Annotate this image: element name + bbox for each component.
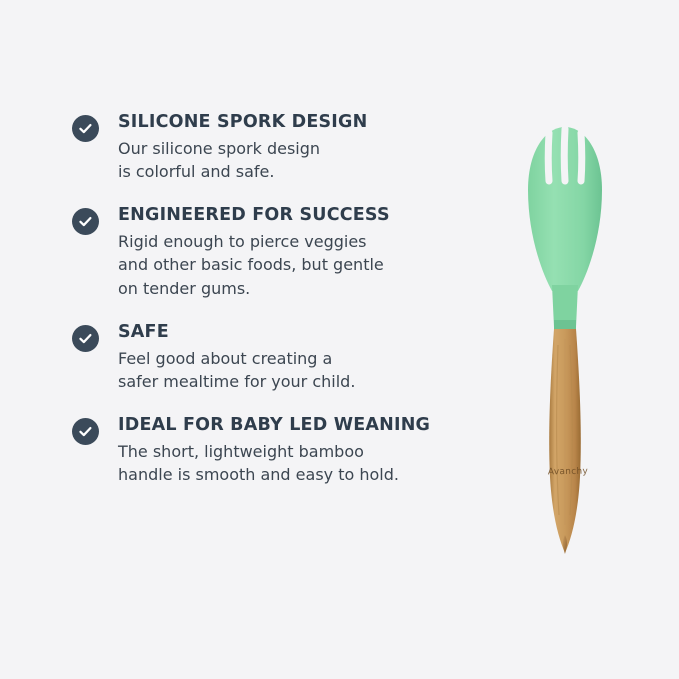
check-icon: [72, 325, 99, 352]
feature-item-ideal-for-baby-led-weaning: IDEAL FOR BABY LED WEANING The short, li…: [72, 415, 472, 486]
feature-title: SILICONE SPORK DESIGN: [118, 112, 472, 134]
feature-item-silicone-spork-design: SILICONE SPORK DESIGN Our silicone spork…: [72, 112, 472, 183]
feature-description: Rigid enough to pierce veggies and other…: [118, 230, 472, 300]
check-icon: [72, 208, 99, 235]
feature-list: SILICONE SPORK DESIGN Our silicone spork…: [72, 112, 472, 486]
feature-title: IDEAL FOR BABY LED WEANING: [118, 415, 472, 437]
brand-logo: Avanchy: [533, 466, 603, 477]
check-icon: [72, 115, 99, 142]
feature-item-safe: SAFE Feel good about creating a safer me…: [72, 322, 472, 393]
product-feature-graphic: SILICONE SPORK DESIGN Our silicone spork…: [0, 0, 679, 679]
silicone-spork-head: [528, 127, 602, 331]
feature-description: Feel good about creating a safer mealtim…: [118, 347, 472, 393]
feature-description: Our silicone spork design is colorful an…: [118, 137, 472, 183]
product-image: Avanchy: [470, 95, 660, 575]
feature-title: SAFE: [118, 322, 472, 344]
bamboo-handle: [549, 329, 581, 554]
check-icon: [72, 418, 99, 445]
feature-item-engineered-for-success: ENGINEERED FOR SUCCESS Rigid enough to p…: [72, 205, 472, 299]
feature-description: The short, lightweight bamboo handle is …: [118, 440, 472, 486]
feature-title: ENGINEERED FOR SUCCESS: [118, 205, 472, 227]
